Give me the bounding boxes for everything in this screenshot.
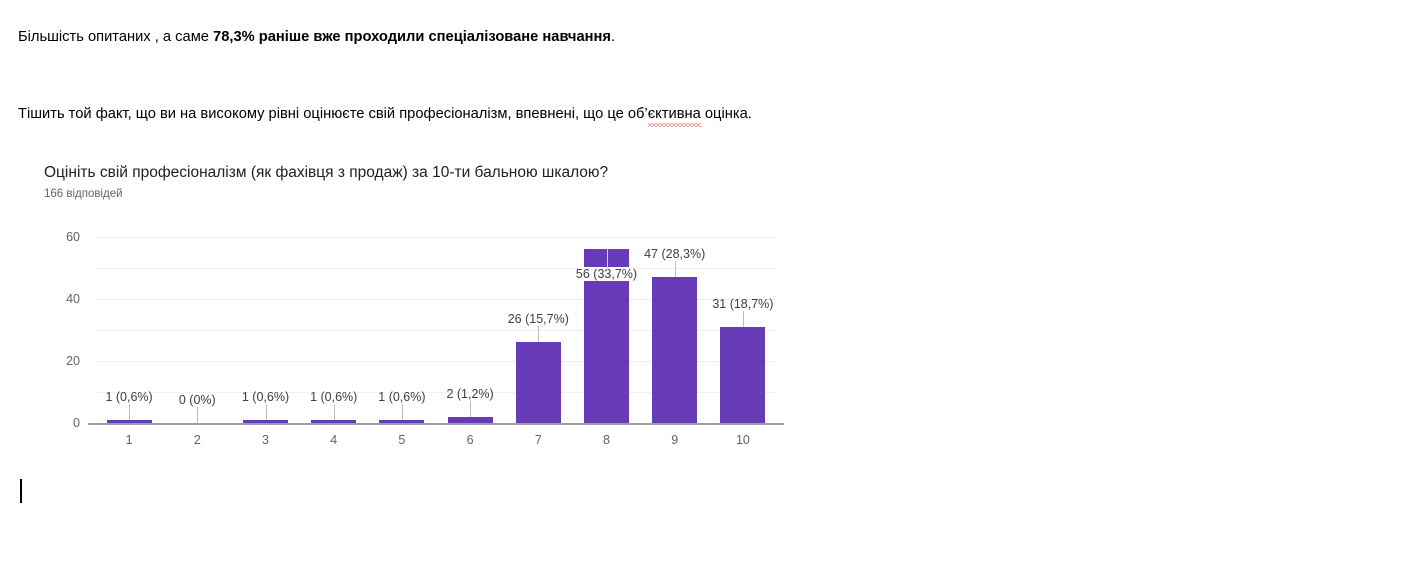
bar-value-label: 26 (15,7%): [508, 312, 569, 326]
bar[interactable]: [516, 342, 561, 423]
spellcheck-misspelled-word: єктивна: [648, 104, 701, 124]
label-leader-line: [266, 404, 267, 420]
x-axis-tick-label: 7: [535, 433, 542, 447]
bar-value-label: 47 (28,3%): [644, 247, 705, 261]
chart-title: Оцініть свій професіоналізм (як фахівця …: [44, 163, 804, 183]
bar[interactable]: [652, 277, 697, 423]
y-axis-tick-label: 0: [40, 417, 80, 429]
bar[interactable]: [720, 327, 765, 423]
bar-value-label: 2 (1,2%): [446, 387, 493, 401]
bar[interactable]: [448, 417, 493, 423]
x-axis-tick-label: 1: [126, 433, 133, 447]
x-axis-tick-label: 10: [736, 433, 750, 447]
bar-value-label: 31 (18,7%): [712, 297, 773, 311]
paragraph1-lead: Більшість опитаних , а саме: [18, 29, 213, 45]
label-leader-line: [607, 249, 608, 271]
gridline: [95, 237, 777, 238]
bar[interactable]: [243, 420, 288, 423]
label-leader-line: [743, 311, 744, 327]
paragraph1-tail: .: [611, 29, 615, 45]
bar-value-label: 1 (0,6%): [105, 390, 152, 404]
label-leader-line: [334, 404, 335, 420]
bar-value-label: 1 (0,6%): [310, 390, 357, 404]
label-leader-line: [675, 261, 676, 277]
y-axis-tick-label: 20: [40, 355, 80, 367]
bar-value-label: 1 (0,6%): [242, 390, 289, 404]
x-axis-tick-label: 9: [671, 433, 678, 447]
y-axis-tick-label: 60: [40, 231, 80, 243]
chart-block: Оцініть свій професіоналізм (як фахівця …: [44, 163, 804, 201]
x-axis-tick-label: 8: [603, 433, 610, 447]
bar[interactable]: [311, 420, 356, 423]
text-caret: [20, 479, 22, 503]
y-axis-tick-label: 40: [40, 293, 80, 305]
bar-value-label: 0 (0%): [179, 393, 216, 407]
x-axis-tick-label: 3: [262, 433, 269, 447]
bar[interactable]: [107, 420, 152, 423]
paragraph-self-assessment: Тішить той факт, що ви на високому рівні…: [18, 104, 752, 124]
chart-responses-count: 166 відповідей: [44, 187, 804, 201]
document-page: Більшість опитаних , а саме 78,3% раніше…: [0, 0, 1411, 580]
x-axis-tick-label: 4: [330, 433, 337, 447]
label-leader-line: [538, 326, 539, 342]
bar-value-label: 1 (0,6%): [378, 390, 425, 404]
label-leader-line: [470, 401, 471, 417]
x-axis-tick-label: 5: [398, 433, 405, 447]
bar[interactable]: [379, 420, 424, 423]
x-axis-tick-label: 2: [194, 433, 201, 447]
x-axis-tick-label: 6: [467, 433, 474, 447]
paragraph-survey-training: Більшість опитаних , а саме 78,3% раніше…: [18, 27, 615, 47]
paragraph1-bold: 78,3% раніше вже проходили спеціалізован…: [213, 29, 611, 45]
x-axis-line: [88, 423, 784, 425]
bar-chart: 0204060 12345678910 1 (0,6%)0 (0%)1 (0,6…: [0, 225, 810, 450]
label-leader-line: [197, 407, 198, 423]
label-leader-line: [402, 404, 403, 420]
paragraph2-tail: оцінка.: [701, 106, 752, 122]
label-leader-line: [129, 404, 130, 420]
paragraph2-lead: Тішить той факт, що ви на високому рівні…: [18, 106, 648, 122]
